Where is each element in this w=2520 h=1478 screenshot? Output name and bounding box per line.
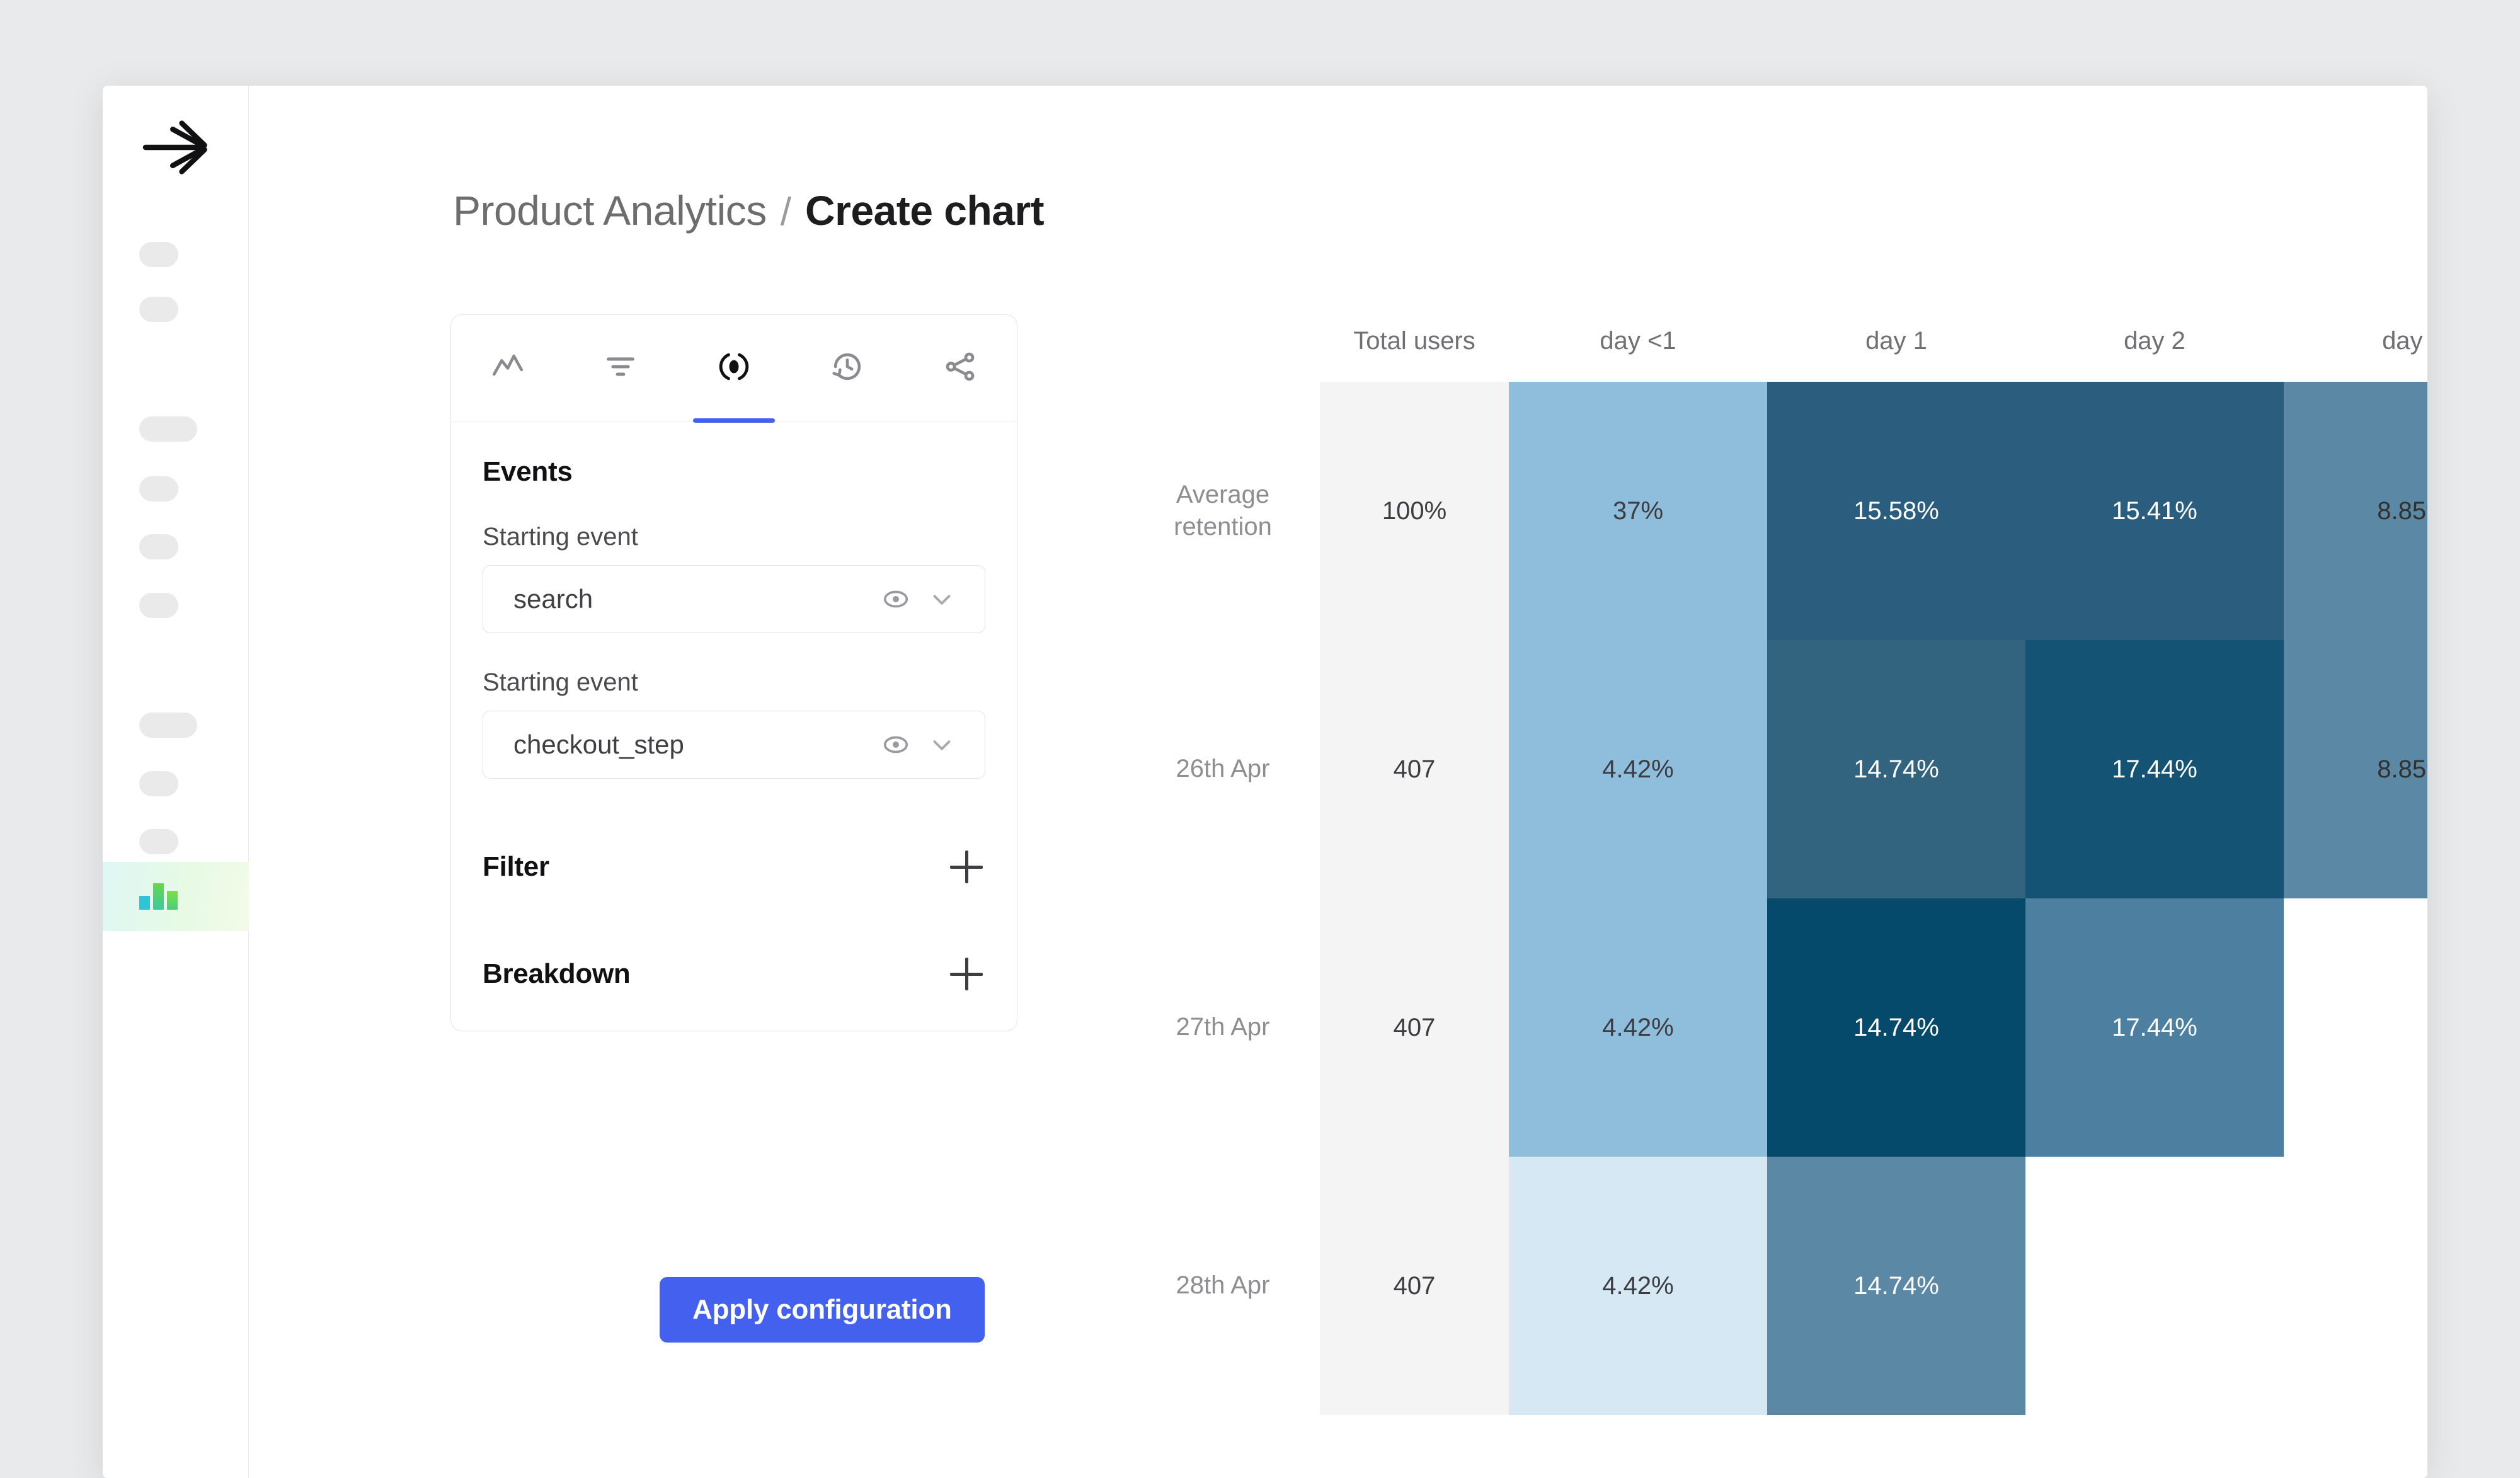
- heatmap-row-label: 26th Apr: [1131, 640, 1320, 898]
- panel-title: Events: [483, 456, 985, 488]
- line-chart-icon: [490, 348, 526, 388]
- heatmap-cell[interactable]: 4.42%: [1509, 898, 1767, 1157]
- tab-filter[interactable]: [564, 315, 678, 421]
- page-title: Create chart: [805, 186, 1044, 234]
- sidebar-item-nav-6[interactable]: [139, 593, 178, 618]
- sidebar-item-nav-3[interactable]: [139, 416, 197, 442]
- heatmap-cell[interactable]: 8.85%: [2284, 382, 2427, 640]
- starting-event-label-1: Starting event: [483, 523, 985, 551]
- heatmap-row-label: 28th Apr: [1131, 1157, 1320, 1415]
- starting-event-select-2[interactable]: checkout_step: [483, 711, 985, 779]
- arrow-right-logo-icon[interactable]: [138, 110, 214, 185]
- heatmap-cell[interactable]: 8.85%: [2284, 640, 2427, 898]
- heatmap-empty-cell: [2284, 1157, 2427, 1415]
- retention-target-icon: [716, 348, 752, 388]
- tab-history[interactable]: [791, 315, 904, 421]
- config-panel: Events Starting event search: [450, 314, 1017, 1031]
- heatmap-row: 26th Apr4074.42%14.74%17.44%8.85%: [1131, 640, 2427, 898]
- heatmap-empty-cell: [2025, 1157, 2284, 1415]
- heatmap-column-header: day 1: [1767, 327, 2025, 355]
- heatmap-total-users-cell: 407: [1320, 1157, 1509, 1415]
- filter-title: Filter: [483, 851, 549, 883]
- sidebar: [103, 86, 249, 1478]
- filter-section: Filter: [483, 848, 985, 886]
- starting-event-label-2: Starting event: [483, 668, 985, 697]
- sidebar-item-analytics[interactable]: [103, 862, 249, 931]
- app-window: Product Analytics / Create chart: [103, 86, 2427, 1478]
- starting-event-field-2: Starting event checkout_step: [483, 668, 985, 779]
- sidebar-item-nav-9[interactable]: [139, 829, 178, 854]
- add-breakdown-button[interactable]: [948, 955, 985, 993]
- sidebar-item-nav-8[interactable]: [139, 771, 178, 796]
- sidebar-item-nav-4[interactable]: [139, 476, 178, 501]
- tab-share[interactable]: [903, 315, 1017, 421]
- heatmap-cell[interactable]: 37%: [1509, 382, 1767, 640]
- apply-configuration-button[interactable]: Apply configuration: [660, 1277, 985, 1343]
- sidebar-item-nav-5[interactable]: [139, 534, 178, 559]
- heatmap-cell[interactable]: 14.74%: [1767, 640, 2025, 898]
- heatmap-cell[interactable]: 15.41%: [2025, 382, 2284, 640]
- heatmap-header-row: Total usersday <1day 1day 2day 3: [1131, 300, 2427, 382]
- heatmap-total-users-cell: 100%: [1320, 382, 1509, 640]
- breadcrumb: Product Analytics / Create chart: [453, 186, 1044, 234]
- chevron-down-icon[interactable]: [918, 730, 966, 759]
- starting-event-select-1[interactable]: search: [483, 565, 985, 633]
- heatmap-body: Average retention100%37%15.58%15.41%8.85…: [1131, 382, 2427, 1415]
- chevron-down-icon[interactable]: [918, 585, 966, 614]
- heatmap-cell[interactable]: 15.58%: [1767, 382, 2025, 640]
- eye-icon[interactable]: [874, 730, 918, 759]
- heatmap-cell[interactable]: 14.74%: [1767, 1157, 2025, 1415]
- retention-heatmap: Total usersday <1day 1day 2day 3 Average…: [1131, 300, 2427, 1415]
- heatmap-row: 27th Apr4074.42%14.74%17.44%: [1131, 898, 2427, 1157]
- heatmap-column-header: Total users: [1320, 327, 1509, 355]
- heatmap-empty-cell: [2284, 898, 2427, 1157]
- heatmap-column-header: day <1: [1509, 327, 1767, 355]
- config-panel-body: Events Starting event search: [451, 422, 1017, 1031]
- heatmap-row: 28th Apr4074.42%14.74%: [1131, 1157, 2427, 1415]
- heatmap-cell[interactable]: 17.44%: [2025, 640, 2284, 898]
- heatmap-column-header: day 2: [2025, 327, 2284, 355]
- breadcrumb-parent[interactable]: Product Analytics: [453, 186, 767, 234]
- heatmap-column-header: day 3: [2284, 327, 2427, 355]
- heatmap-cell[interactable]: 14.74%: [1767, 898, 2025, 1157]
- heatmap-cell[interactable]: 17.44%: [2025, 898, 2284, 1157]
- heatmap-row-label: Average retention: [1131, 382, 1320, 640]
- heatmap-total-users-cell: 407: [1320, 640, 1509, 898]
- breakdown-section: Breakdown: [483, 955, 985, 993]
- share-nodes-icon: [942, 348, 978, 388]
- starting-event-field-1: Starting event search: [483, 523, 985, 633]
- bar-chart-icon: [139, 883, 178, 910]
- config-tabbar: [451, 315, 1017, 422]
- heatmap-cell[interactable]: 4.42%: [1509, 640, 1767, 898]
- heatmap-row-label: 27th Apr: [1131, 898, 1320, 1157]
- starting-event-value-2: checkout_step: [513, 730, 874, 760]
- tab-line-chart[interactable]: [451, 315, 564, 421]
- starting-event-value-1: search: [513, 584, 874, 614]
- eye-icon[interactable]: [874, 585, 918, 614]
- sidebar-item-nav-7[interactable]: [139, 713, 197, 738]
- heatmap-total-users-cell: 407: [1320, 898, 1509, 1157]
- sidebar-item-nav-1[interactable]: [139, 242, 178, 267]
- sidebar-item-nav-2[interactable]: [139, 297, 178, 322]
- add-filter-button[interactable]: [948, 848, 985, 886]
- main-content: Product Analytics / Create chart: [249, 86, 2427, 1478]
- filter-icon: [602, 348, 639, 388]
- breakdown-title: Breakdown: [483, 958, 630, 990]
- history-clock-icon: [829, 348, 866, 388]
- heatmap-row: Average retention100%37%15.58%15.41%8.85…: [1131, 382, 2427, 640]
- tab-retention[interactable]: [677, 315, 791, 421]
- heatmap-cell[interactable]: 4.42%: [1509, 1157, 1767, 1415]
- breadcrumb-separator: /: [781, 190, 791, 234]
